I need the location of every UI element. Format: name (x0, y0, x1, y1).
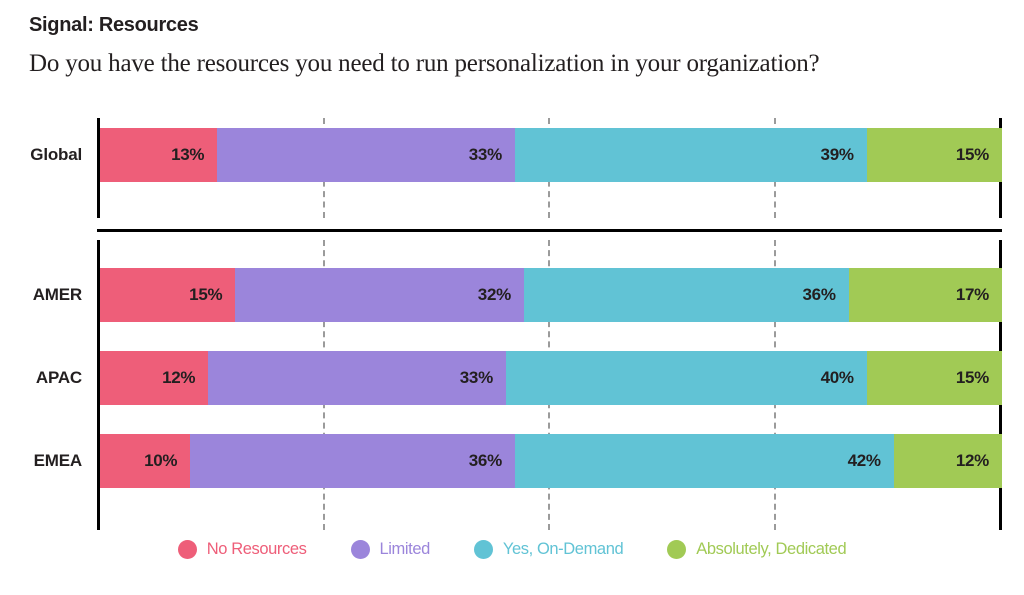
bar-segment-amer-no-resources[interactable]: 15% (100, 268, 235, 322)
bar-track-apac: 12%33%40%15% (100, 351, 1002, 405)
legend-item-yes-on-demand[interactable]: Yes, On-Demand (474, 540, 623, 559)
legend-dot-icon-limited (351, 540, 370, 559)
bar-segment-emea-absolutely-dedicated[interactable]: 12% (894, 434, 1002, 488)
legend-item-limited[interactable]: Limited (351, 540, 430, 559)
bar-segment-value: 39% (821, 145, 854, 165)
bar-segment-value: 15% (956, 145, 989, 165)
bar-segment-apac-limited[interactable]: 33% (208, 351, 506, 405)
bar-segment-apac-no-resources[interactable]: 12% (100, 351, 208, 405)
bar-segment-emea-limited[interactable]: 36% (190, 434, 515, 488)
stacked-bar-chart: Global13%33%39%15%AMER15%32%36%17%APAC12… (0, 100, 1024, 530)
bar-row-label-apac: APAC (0, 368, 90, 388)
bar-segment-value: 13% (171, 145, 204, 165)
bar-segment-value: 36% (803, 285, 836, 305)
page-title: Signal: Resources (29, 14, 989, 36)
bar-row-global: Global13%33%39%15% (0, 128, 1024, 182)
legend-label-limited: Limited (380, 540, 430, 559)
bar-row-emea: EMEA10%36%42%12% (0, 434, 1024, 488)
bar-segment-value: 10% (144, 451, 177, 471)
bar-segment-value: 36% (469, 451, 502, 471)
bar-row-label-amer: AMER (0, 285, 90, 305)
bar-segment-value: 33% (469, 145, 502, 165)
bar-segment-global-no-resources[interactable]: 13% (100, 128, 217, 182)
legend-dot-icon-yes-on-demand (474, 540, 493, 559)
bar-segment-value: 42% (848, 451, 881, 471)
bar-track-emea: 10%36%42%12% (100, 434, 1002, 488)
legend-item-no-resources[interactable]: No Resources (178, 540, 307, 559)
bar-row-label-global: Global (0, 145, 90, 165)
bar-segment-apac-absolutely-dedicated[interactable]: 15% (867, 351, 1002, 405)
bar-segment-value: 17% (956, 285, 989, 305)
group-divider (97, 229, 1002, 232)
bar-segment-amer-yes-on-demand[interactable]: 36% (524, 268, 849, 322)
bar-segment-value: 12% (162, 368, 195, 388)
bar-segment-value: 40% (821, 368, 854, 388)
bar-segment-global-absolutely-dedicated[interactable]: 15% (867, 128, 1002, 182)
legend-dot-icon-absolutely-dedicated (667, 540, 686, 559)
bar-segment-emea-yes-on-demand[interactable]: 42% (515, 434, 894, 488)
bar-segment-value: 15% (956, 368, 989, 388)
bar-segment-apac-yes-on-demand[interactable]: 40% (506, 351, 867, 405)
bar-row-amer: AMER15%32%36%17% (0, 268, 1024, 322)
bar-segment-amer-absolutely-dedicated[interactable]: 17% (849, 268, 1002, 322)
legend-dot-icon-no-resources (178, 540, 197, 559)
bar-segment-value: 33% (460, 368, 493, 388)
chart-subtitle: Do you have the resources you need to ru… (29, 50, 989, 79)
bar-row-apac: APAC12%33%40%15% (0, 351, 1024, 405)
bar-segment-emea-no-resources[interactable]: 10% (100, 434, 190, 488)
bar-segment-global-yes-on-demand[interactable]: 39% (515, 128, 867, 182)
chart-header: Signal: Resources Do you have the resour… (29, 14, 989, 79)
bar-track-amer: 15%32%36%17% (100, 268, 1002, 322)
bar-segment-amer-limited[interactable]: 32% (235, 268, 524, 322)
legend-label-absolutely-dedicated: Absolutely, Dedicated (696, 540, 846, 559)
bar-segment-value: 32% (478, 285, 511, 305)
legend-label-yes-on-demand: Yes, On-Demand (503, 540, 623, 559)
bar-segment-value: 12% (956, 451, 989, 471)
legend-item-absolutely-dedicated[interactable]: Absolutely, Dedicated (667, 540, 846, 559)
bar-track-global: 13%33%39%15% (100, 128, 1002, 182)
bar-row-label-emea: EMEA (0, 451, 90, 471)
bar-segment-global-limited[interactable]: 33% (217, 128, 515, 182)
legend-label-no-resources: No Resources (207, 540, 307, 559)
chart-legend: No ResourcesLimitedYes, On-DemandAbsolut… (0, 540, 1024, 559)
bar-segment-value: 15% (189, 285, 222, 305)
